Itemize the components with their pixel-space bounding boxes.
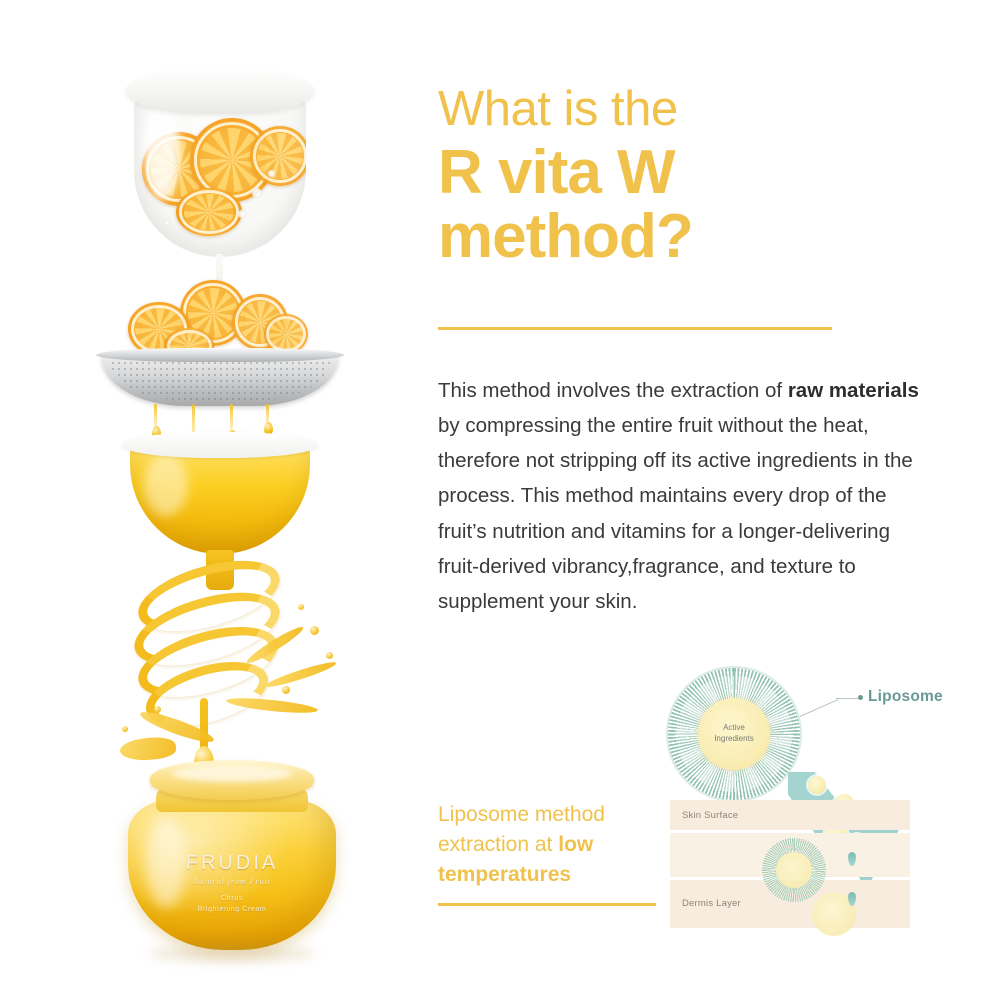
bubble-icon <box>268 170 275 177</box>
headline-line-3: method? <box>438 207 908 267</box>
spiral-tail <box>200 698 208 750</box>
vesicle-icon <box>808 776 826 794</box>
body-text-part-1: This method involves the extraction of <box>438 379 788 402</box>
juice-bowl <box>122 432 318 564</box>
liposome-callout-label: Liposome <box>868 688 943 706</box>
body-text-part-2: by compressing the entire fruit without … <box>438 414 913 613</box>
active-ingredients-line-2: Ingredients <box>714 734 754 743</box>
skin-cross-section-panel: Skin Surface Dermis Layer <box>670 800 910 928</box>
splash-arc <box>226 695 319 716</box>
skin-liposome-icon <box>762 838 826 902</box>
splash-droplet-icon <box>326 652 333 659</box>
jar-tagline: Natural from Fruit <box>128 877 336 886</box>
juice-stream <box>266 404 269 424</box>
headline-line-2: R vita W <box>438 143 908 203</box>
product-jar: FRUDIA Natural from Fruit Citrus Brighte… <box>122 760 342 960</box>
splash-wave <box>119 735 177 763</box>
strainer-with-oranges <box>96 280 344 430</box>
juice-spiral-splash <box>114 560 344 770</box>
jar-body: FRUDIA Natural from Fruit Citrus Brighte… <box>128 800 336 950</box>
bubble-icon <box>238 210 246 218</box>
skin-surface-label: Skin Surface <box>682 810 738 821</box>
headline-line-1: What is the <box>438 86 908 133</box>
splash-arc <box>264 659 337 690</box>
jar-brand-name: FRUDIA <box>128 852 336 875</box>
splash-droplet-icon <box>282 686 290 694</box>
splash-droplet-icon <box>122 726 128 732</box>
jar-lid <box>150 760 314 800</box>
promo-graphic-page: FRUDIA Natural from Fruit Citrus Brighte… <box>0 0 1000 1000</box>
juice-stream <box>230 404 233 432</box>
callout-leader-flat <box>836 698 858 699</box>
active-ingredients-label: Active Ingredients <box>714 723 754 745</box>
title-divider <box>438 327 832 330</box>
body-paragraph: This method involves the extraction of r… <box>438 373 934 620</box>
strainer-rim <box>96 348 344 362</box>
callout-leader-line <box>800 699 839 717</box>
body-text-bold-1: raw materials <box>788 379 919 402</box>
extraction-process-illustration: FRUDIA Natural from Fruit Citrus Brighte… <box>60 40 400 970</box>
active-ingredients-line-1: Active <box>723 723 745 732</box>
jar-product-line-2: Brightening Cream <box>128 905 336 916</box>
splash-droplet-icon <box>154 706 161 713</box>
juice-bowl-rim <box>122 432 318 458</box>
liposome-caption: Liposome method extraction at low temper… <box>438 800 668 889</box>
jar-label: FRUDIA Natural from Fruit Citrus Brighte… <box>128 852 336 915</box>
glass-bowl-body <box>134 92 306 257</box>
caption-divider <box>438 903 656 906</box>
juice-bowl-body <box>130 444 310 554</box>
callout-dot-icon <box>858 695 863 700</box>
glass-bowl-with-oranges <box>120 68 320 278</box>
bubble-icon <box>252 188 262 198</box>
splash-droplet-icon <box>298 604 304 610</box>
page-title: What is the R vita W method? <box>438 86 908 266</box>
orange-slice-icon <box>176 188 242 236</box>
jar-product-line-1: Citrus <box>128 894 336 905</box>
orange-slice-icon <box>250 126 306 186</box>
splash-droplet-icon <box>310 626 319 635</box>
jar-shadow <box>148 946 316 962</box>
glass-bowl-rim <box>126 68 314 114</box>
liposome-core: Active Ingredients <box>698 698 770 770</box>
bubble-icon <box>164 220 170 226</box>
juice-stream <box>154 404 157 428</box>
content-column: What is the R vita W method? This method… <box>438 0 958 1000</box>
dermis-layer-label: Dermis Layer <box>682 898 741 909</box>
